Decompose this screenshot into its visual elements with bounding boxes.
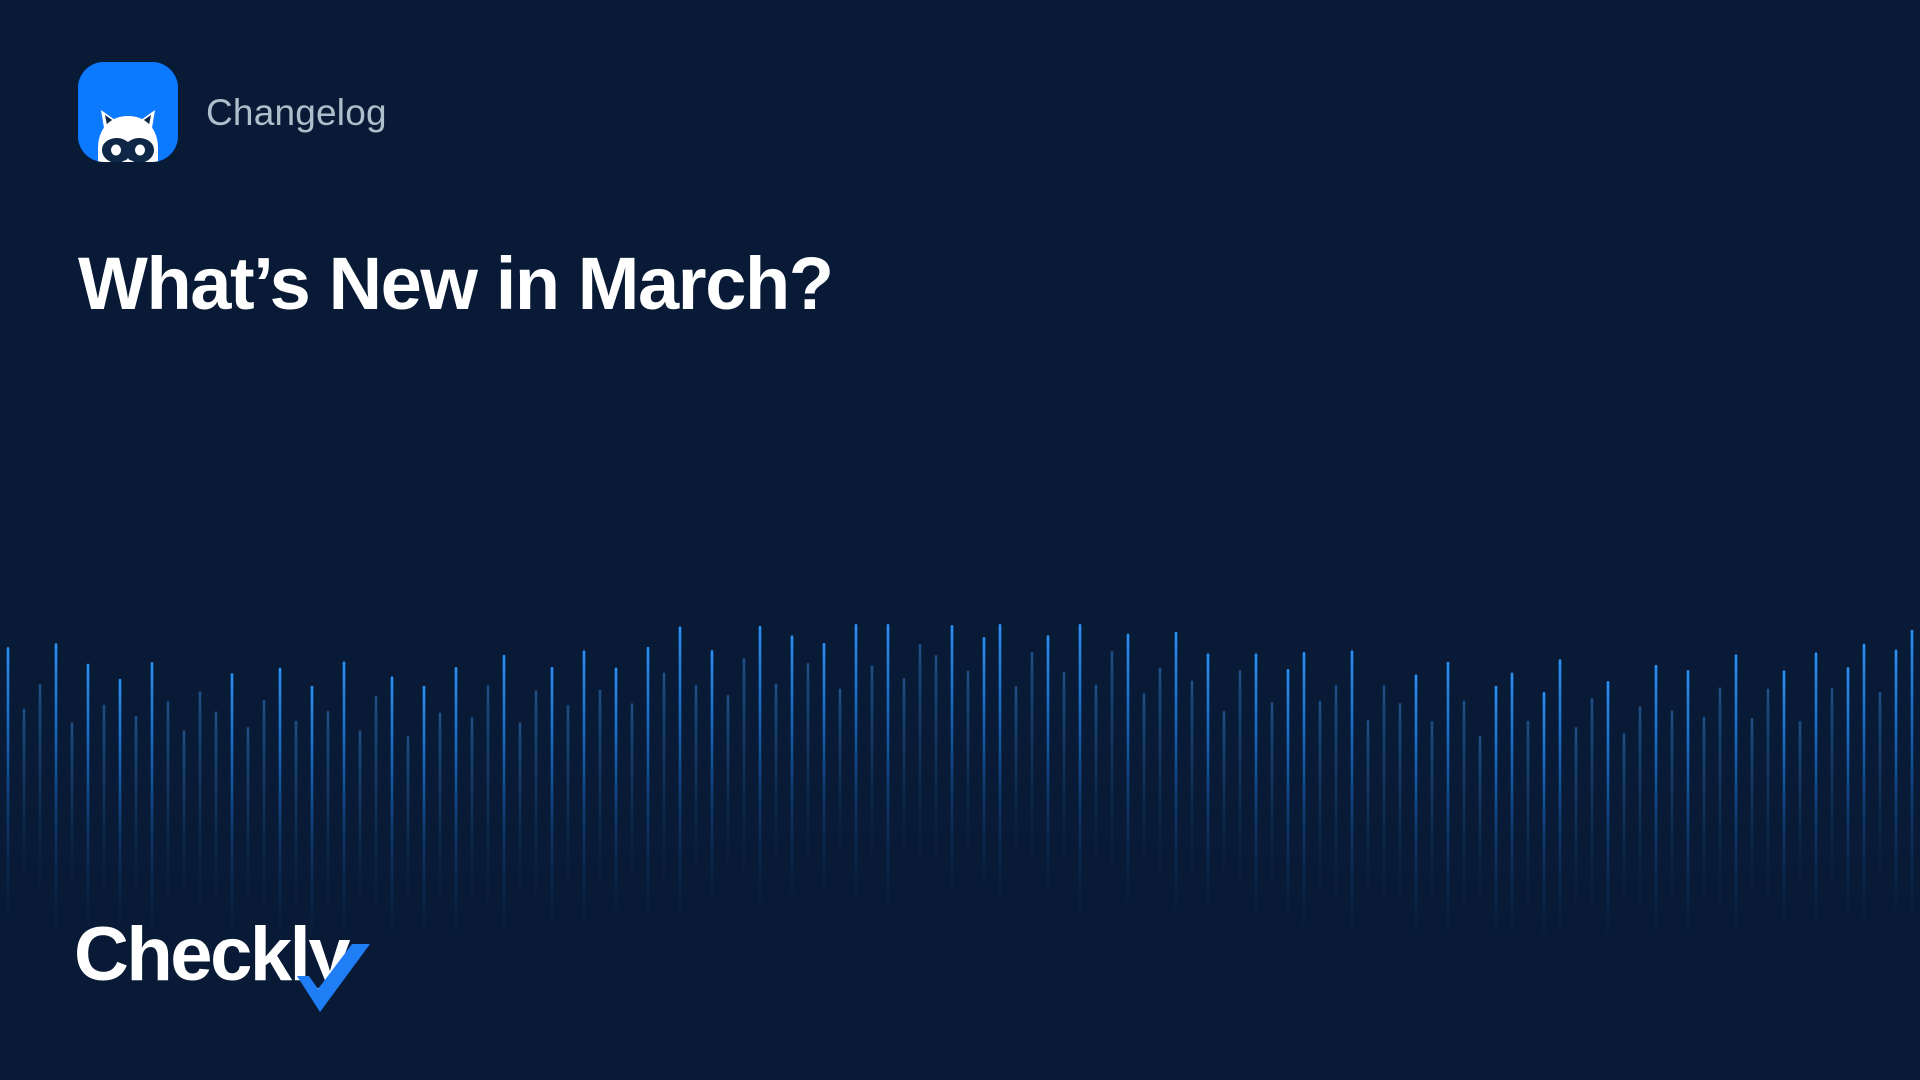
waveform-bar	[1607, 681, 1610, 950]
waveform-bar	[1735, 654, 1738, 950]
waveform-bar	[247, 727, 250, 931]
waveform-bar	[1191, 680, 1194, 906]
waveform-bar	[39, 684, 42, 922]
waveform-bar	[1815, 652, 1818, 941]
waveform-bar	[1431, 721, 1434, 928]
waveform-bar	[1831, 688, 1834, 920]
waveform-bar	[1799, 721, 1802, 909]
waveform-bar	[679, 626, 682, 934]
waveform-bar	[1687, 670, 1690, 950]
waveform-bar	[663, 673, 666, 915]
waveform-bar	[7, 647, 10, 934]
waveform-bar	[599, 690, 602, 918]
waveform-bar	[407, 736, 410, 924]
waveform-bar	[1639, 706, 1642, 940]
raccoon-app-icon	[78, 62, 178, 162]
waveform-bar	[1495, 686, 1498, 950]
waveform-bar	[343, 662, 346, 950]
waveform-bar	[807, 663, 810, 895]
waveform-bar	[1319, 701, 1322, 922]
waveform-bar	[1783, 670, 1786, 938]
waveform-bar	[1143, 693, 1146, 891]
waveform-bar	[391, 676, 394, 950]
waveform-bar	[1511, 672, 1514, 950]
waveform-bar	[71, 722, 74, 909]
waveform-bar	[1703, 717, 1706, 928]
waveform-bar	[1591, 698, 1594, 947]
waveform-bar	[1127, 634, 1130, 919]
waveform-bar	[567, 705, 570, 916]
checkly-logo: Checkly	[74, 908, 374, 1018]
waveform-bar	[983, 637, 986, 901]
waveform-bar	[1287, 669, 1290, 932]
waveform-bar	[103, 705, 106, 924]
waveform-bar	[1671, 710, 1674, 935]
waveform-bar	[1239, 670, 1242, 921]
waveform-bar	[1063, 672, 1066, 891]
waveform-bar	[503, 655, 506, 950]
waveform-bar	[1879, 692, 1882, 909]
waveform-bar	[1543, 692, 1546, 950]
waveform-bar	[151, 662, 154, 950]
waveform-bar	[615, 668, 618, 927]
waveform-bar	[1175, 632, 1178, 929]
waveform-bar	[199, 691, 202, 944]
accessible-title: What’s New in March?	[0, 0, 1, 1]
waveform-bar	[871, 665, 874, 888]
waveform-bar	[119, 679, 122, 940]
waveform-bar	[1895, 649, 1898, 927]
waveform-bar	[1159, 668, 1162, 908]
waveform-bar	[1575, 727, 1578, 933]
waveform-bar	[327, 711, 330, 941]
waveform-bar	[1623, 733, 1626, 927]
waveform-bar	[855, 624, 858, 913]
waveform-bar	[1479, 735, 1482, 925]
waveform-bar	[583, 650, 586, 941]
waveform-bar	[711, 650, 714, 916]
waveform-bar	[487, 685, 490, 940]
waveform-bar	[791, 635, 794, 911]
waveform-bar	[1303, 652, 1306, 943]
waveform-bar	[1095, 685, 1098, 889]
waveform-bar	[439, 712, 442, 933]
waveform-bar	[1351, 650, 1354, 950]
waveform-bar	[695, 685, 698, 902]
waveform-bar	[1367, 720, 1370, 920]
page-title: What’s New in March?	[78, 245, 833, 323]
waveform-bar	[1271, 702, 1274, 911]
waveform-bar	[1863, 644, 1866, 937]
waveform-bar	[1719, 687, 1722, 940]
audio-waveform	[0, 620, 1920, 950]
waveform-bar	[1527, 721, 1530, 936]
waveform-bar	[1111, 651, 1114, 908]
waveform-bar	[1383, 685, 1386, 940]
waveform-bar	[903, 678, 906, 880]
waveform-bar	[1415, 674, 1418, 950]
waveform-bar	[647, 647, 650, 930]
waveform-bar	[455, 667, 458, 950]
waveform-bar	[1751, 718, 1754, 920]
waveform-bar	[183, 730, 186, 922]
waveform-bar	[743, 658, 746, 907]
waveform-bar	[535, 690, 538, 930]
waveform-bar	[919, 644, 922, 897]
waveform-bar	[631, 703, 634, 905]
waveform-bar	[1463, 701, 1466, 943]
waveform-bar	[135, 716, 138, 923]
waveform-bar	[823, 643, 826, 904]
waveform-bar	[999, 624, 1002, 917]
changelog-cover-slide: Changelog What’s New in March?	[0, 0, 1920, 1080]
waveform-bar	[1047, 635, 1050, 907]
waveform-bar	[1031, 652, 1034, 897]
waveform-bar	[1335, 685, 1338, 932]
waveform-bar	[1207, 653, 1210, 923]
waveform-bar	[839, 688, 842, 878]
changelog-label: Changelog	[206, 94, 387, 131]
waveform-bar	[759, 626, 762, 921]
waveform-bar	[359, 730, 362, 930]
waveform-bar	[1847, 667, 1850, 928]
waveform-bar	[1399, 703, 1402, 933]
waveform-bar	[1223, 711, 1226, 898]
waveform-bar	[375, 696, 378, 947]
waveform-bar	[215, 711, 218, 936]
waveform-bar	[167, 701, 170, 935]
waveform-bar	[887, 624, 890, 925]
brand-row: Changelog	[78, 62, 387, 162]
waveform-bar	[551, 667, 554, 939]
waveform-bar	[471, 717, 474, 926]
waveform-bar	[1767, 689, 1770, 933]
waveform-bar	[1255, 653, 1258, 933]
waveform-bar	[1015, 686, 1018, 878]
waveform-bar	[1655, 665, 1658, 950]
waveform-bar	[727, 695, 730, 891]
waveform-bar	[967, 671, 970, 884]
waveform-bar	[1079, 624, 1082, 930]
waveform-bar	[519, 722, 522, 916]
waveform-bar	[1911, 630, 1914, 934]
waveform-bar	[935, 655, 938, 891]
waveform-bar	[423, 686, 426, 949]
waveform-bar	[295, 721, 298, 936]
waveform-bar	[87, 664, 90, 942]
waveform-bar	[23, 708, 26, 906]
waveform-bar	[1559, 659, 1562, 950]
waveform-bar	[951, 625, 954, 907]
waveform-bar	[55, 643, 58, 945]
waveform-bar	[775, 684, 778, 890]
waveform-bar	[1447, 662, 1450, 950]
